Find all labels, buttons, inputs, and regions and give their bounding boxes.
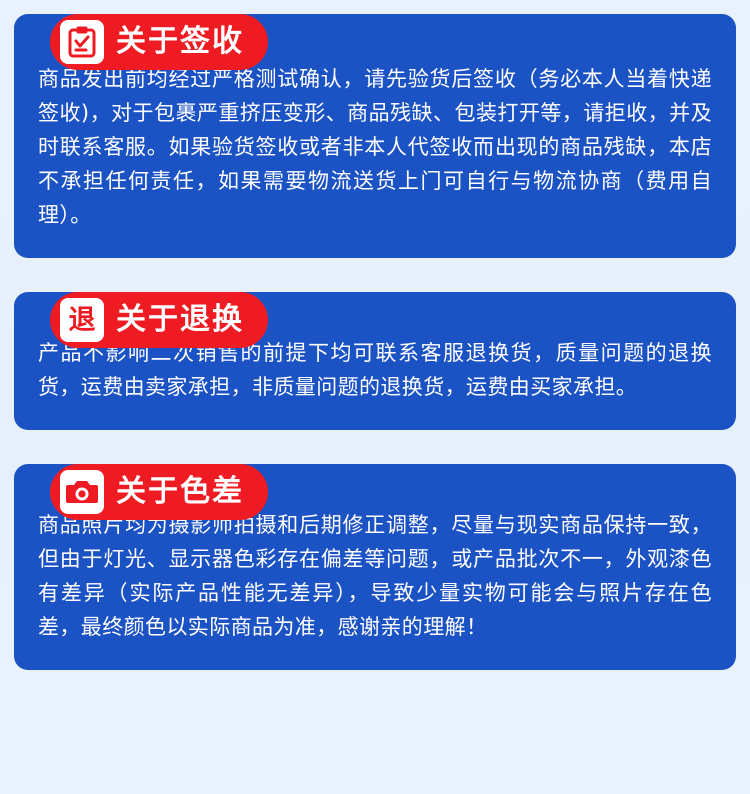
section-color-difference: 关于色差 商品照片均为摄影师拍摄和后期修正调整，尽量与现实商品保持一致，但由于灯… xyxy=(14,464,736,670)
return-box-icon-label: 退 xyxy=(69,307,96,334)
section-signing: 关于签收 商品发出前均经过严格测试确认，请先验货后签收（务必本人当着快递签收)，… xyxy=(14,14,736,258)
badge-signing: 关于签收 xyxy=(50,14,268,70)
badge-title-color-difference: 关于色差 xyxy=(116,477,244,507)
badge-color-difference: 关于色差 xyxy=(50,464,268,520)
camera-icon xyxy=(60,470,104,514)
color-difference-text: 商品照片均为摄影师拍摄和后期修正调整，尽量与现实商品保持一致，但由于灯光、显示器… xyxy=(38,508,712,644)
section-return-exchange: 退 关于退换 产品不影响二次销售的前提下均可联系客服退换货，质量问题的退换货，运… xyxy=(14,292,736,430)
product-policy-page: 关于签收 商品发出前均经过严格测试确认，请先验货后签收（务必本人当着快递签收)，… xyxy=(0,0,750,794)
badge-title-signing: 关于签收 xyxy=(116,27,244,57)
return-box-icon: 退 xyxy=(60,298,104,342)
signing-text: 商品发出前均经过严格测试确认，请先验货后签收（务必本人当着快递签收)，对于包裹严… xyxy=(38,62,712,232)
clipboard-check-icon xyxy=(60,20,104,64)
badge-title-return-exchange: 关于退换 xyxy=(116,305,244,335)
badge-return-exchange: 退 关于退换 xyxy=(50,292,268,348)
